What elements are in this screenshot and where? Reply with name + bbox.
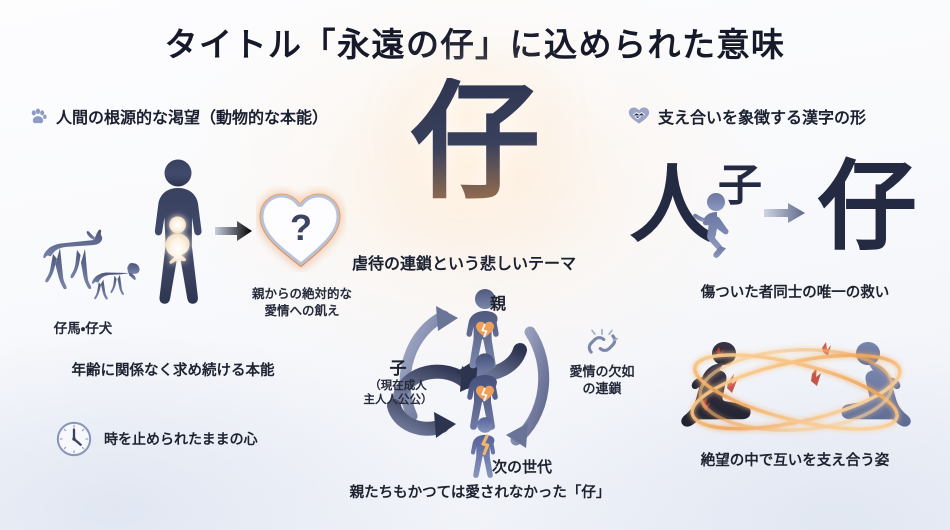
heart-caption: 親からの絶対的な 愛情への飢え [228,286,376,319]
chain-caption-line1: 愛情の欠如 [569,364,634,381]
node-child-sub-line2: 主人人公公） [350,393,446,407]
page-title: タイトル「永遠の仔」に込められた意味 [0,18,950,66]
node-child-main: 子 [350,354,446,379]
left-section-header: 人間の根源的な渇望（動物的な本能） [28,104,338,136]
node-child-label: 子 （現在成人 主人人公公） [350,354,446,408]
node-parent-label: 親 [490,290,506,314]
left-header-label: 人間の根源的な渇望（動物的な本能） [56,104,328,128]
chain-caption-line2: の連鎖 [569,381,634,398]
animals-caption: 仔馬・仔犬 [28,320,138,338]
kanji-caption: 傷ついた者同士の唯一の救い [650,284,940,304]
handshake-heart-icon [628,106,650,126]
right-arrow-icon [213,218,255,249]
chain-block: 愛情の欠如 の連鎖 [556,326,648,398]
heart-caption-line2: 愛情への飢え [228,303,376,320]
instinct-caption: 年齢に関係なく求め続ける本能 [28,362,318,382]
node-next-generation-label: 次の世代 [492,456,552,477]
support-caption: 絶望の中で互いを支え合う姿 [650,452,940,472]
center-section-header: 虐待の連鎖という悲しいテーマ [352,250,622,280]
clock-caption-row: 時を止められたままの心 [55,420,258,458]
center-bottom-caption: 親たちもかつては愛されなかった「仔」 [330,484,630,504]
animal-silhouettes [22,218,147,318]
kanji-combination-arrow-icon [762,200,808,231]
clock-caption: 時を止められたままの心 [104,429,258,449]
center-header-label: 虐待の連鎖という悲しいテーマ [352,250,576,274]
node-child-sub-line1: （現在成人 [350,379,446,393]
center-kanji: 仔 [375,78,575,206]
infographic-canvas: タイトル「永遠の仔」に込められた意味 人間の根源的な渇望（動物的な本能） [0,0,950,530]
paw-print-icon [28,106,48,126]
kanji-result: 仔 [818,158,916,256]
heart-question-mark: ? [290,207,312,248]
heart-caption-line1: 親からの絶対的な [228,286,376,303]
right-header-label: 支え合いを象徴する漢字の形 [658,104,866,128]
two-wounded-figures [672,330,920,451]
heart-question-icon: ? [256,186,346,277]
right-section-header: 支え合いを象徴する漢字の形 [628,104,928,136]
broken-chain-icon [582,326,622,362]
adult-with-inner-child-figure [138,156,218,321]
crawling-child-figure [690,190,752,267]
clock-icon [55,420,93,458]
